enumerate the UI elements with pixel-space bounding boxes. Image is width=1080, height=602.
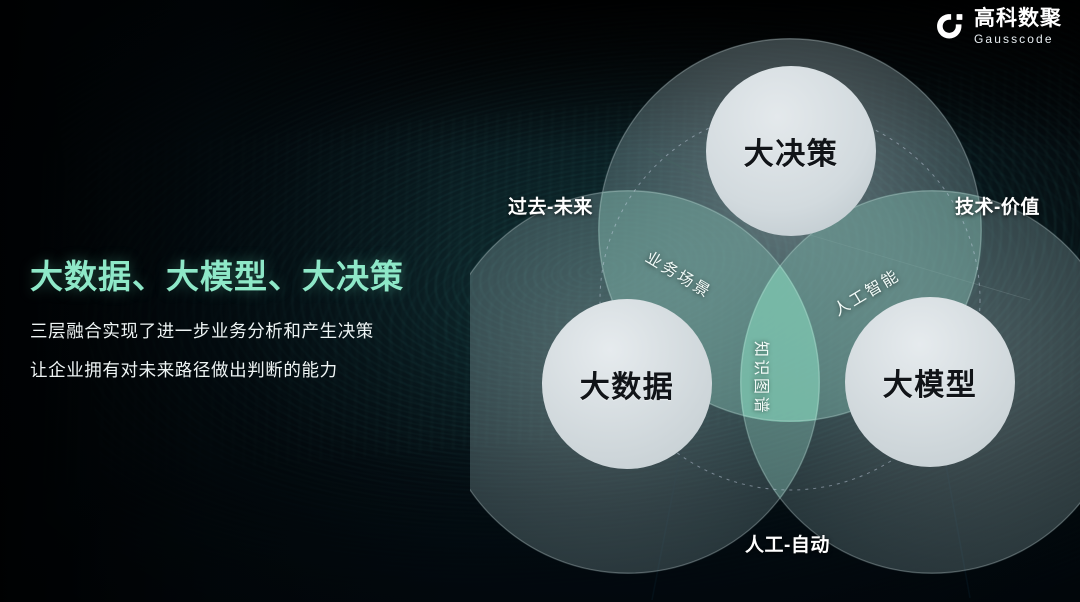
venn-intersection-label-knowledge-graph: 知识图谱 xyxy=(751,341,775,415)
venn-diagram xyxy=(470,0,1080,602)
gausscode-g-mark-icon xyxy=(935,12,965,42)
brand-name-en: Gausscode xyxy=(974,33,1062,45)
left-text-block: 大数据、大模型、大决策 三层融合实现了进一步业务分析和产生决策 让企业拥有对未来… xyxy=(30,250,500,396)
venn-core-label-decision: 大决策 xyxy=(744,129,839,173)
page-title: 大数据、大模型、大决策 xyxy=(30,250,500,298)
venn-core-label-bigmodel: 大模型 xyxy=(883,360,978,404)
brand-name-cn: 高科数聚 xyxy=(974,8,1062,29)
slide-canvas: 大决策 大数据 大模型 业务场景 人工智能 知识图谱 过去-未来 技术-价值 人… xyxy=(0,0,1080,602)
venn-axis-label-tech-value: 技术-价值 xyxy=(955,192,1040,219)
brand-logo-text: 高科数聚 Gausscode xyxy=(974,8,1062,45)
brand-logo: 高科数聚 Gausscode xyxy=(935,8,1062,45)
subtitle-line-2: 让企业拥有对未来路径做出判断的能力 xyxy=(30,357,500,382)
subtitle-line-1: 三层融合实现了进一步业务分析和产生决策 xyxy=(30,318,500,343)
venn-axis-label-manual-auto: 人工-自动 xyxy=(745,530,830,557)
venn-axis-label-past-future: 过去-未来 xyxy=(508,192,593,219)
venn-core-label-bigdata: 大数据 xyxy=(580,362,675,406)
